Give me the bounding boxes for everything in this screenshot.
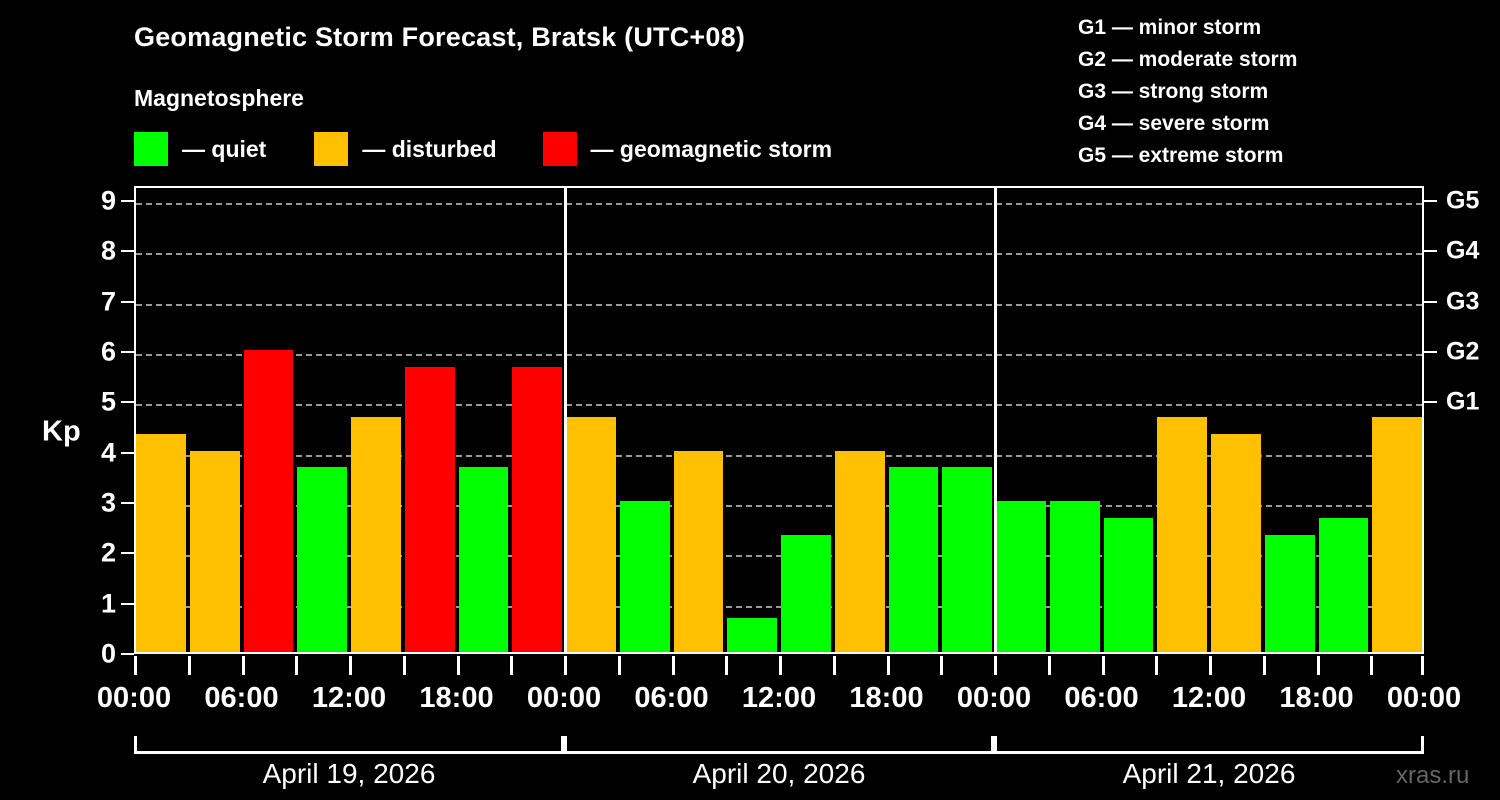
x-tick-label: 18:00: [419, 682, 493, 715]
legend-item-storm: — geomagnetic storm: [543, 131, 833, 167]
x-tick-label: 00:00: [957, 682, 1031, 715]
g-tick-mark: [1424, 301, 1437, 303]
g-scale-item-g1: G1 — minor storm: [1078, 12, 1297, 44]
y-tick-mark: [121, 552, 134, 554]
day-label: April 20, 2026: [693, 758, 866, 790]
g-axis-labels: G1G2G3G4G5: [1446, 186, 1500, 654]
y-tick-label: 7: [101, 286, 116, 317]
g-tick-mark: [1424, 351, 1437, 353]
x-tick-mark: [1209, 656, 1212, 675]
x-tick-mark: [1370, 656, 1373, 675]
bar: [1319, 518, 1369, 652]
bar: [889, 467, 939, 652]
x-tick-mark: [1102, 656, 1105, 675]
bar: [566, 417, 616, 652]
y-tick-label: 8: [101, 236, 116, 267]
gridline: [136, 203, 1422, 205]
x-tick-label: 06:00: [204, 682, 278, 715]
x-tick-label: 00:00: [527, 682, 601, 715]
g-scale-legend: G1 — minor storm G2 — moderate storm G3 …: [1078, 12, 1297, 172]
x-tick-label: 00:00: [97, 682, 171, 715]
y-tick-mark: [121, 653, 134, 655]
red-swatch-icon: [543, 132, 577, 166]
x-tick-mark: [618, 656, 621, 675]
day-bracket: [994, 736, 1424, 754]
x-tick-mark: [1263, 656, 1266, 675]
g-scale-item-g2: G2 — moderate storm: [1078, 44, 1297, 76]
x-tick-mark: [403, 656, 406, 675]
gridline: [136, 354, 1422, 356]
legend-item-disturbed: — disturbed: [314, 131, 496, 167]
y-tick-label: 4: [101, 437, 116, 468]
bar: [1211, 434, 1261, 652]
legend-heading: Magnetosphere: [134, 85, 304, 112]
gridline: [136, 304, 1422, 306]
bar: [405, 367, 455, 652]
legend-label-storm: — geomagnetic storm: [591, 136, 833, 163]
bar: [674, 451, 724, 652]
day-label: April 19, 2026: [263, 758, 436, 790]
x-tick-label: 12:00: [312, 682, 386, 715]
x-tick-mark: [349, 656, 352, 675]
x-tick-mark: [725, 656, 728, 675]
y-tick-mark: [121, 351, 134, 353]
x-tick-label: 18:00: [1279, 682, 1353, 715]
x-axis-labels: 00:0006:0012:0018:0000:0006:0012:0018:00…: [0, 682, 1500, 722]
day-label: April 21, 2026: [1123, 758, 1296, 790]
y-tick-mark: [121, 301, 134, 303]
y-tick-mark: [121, 250, 134, 252]
orange-swatch-icon: [314, 132, 348, 166]
y-tick-mark: [121, 603, 134, 605]
x-tick-mark: [1317, 656, 1320, 675]
g-axis-ticks: [1424, 186, 1438, 654]
y-tick-label: 0: [101, 639, 116, 670]
x-tick-mark: [242, 656, 245, 675]
g-scale-item-g5: G5 — extreme storm: [1078, 140, 1297, 172]
bar: [190, 451, 240, 652]
bar: [1104, 518, 1154, 652]
g-tick-label: G5: [1446, 187, 1479, 216]
x-tick-label: 06:00: [634, 682, 708, 715]
bar: [1157, 417, 1207, 652]
plot-area: [136, 188, 1422, 652]
day-bracket: [134, 736, 564, 754]
legend-item-quiet: — quiet: [134, 131, 266, 167]
bar: [1265, 535, 1315, 652]
watermark: xras.ru: [1396, 762, 1469, 790]
g-scale-item-g4: G4 — severe storm: [1078, 108, 1297, 140]
x-tick-mark: [1048, 656, 1051, 675]
x-tick-mark: [134, 656, 137, 675]
x-tick-label: 12:00: [1172, 682, 1246, 715]
kp-bar-chart: [134, 186, 1424, 654]
gridline: [136, 404, 1422, 406]
day-separator: [994, 188, 997, 652]
y-tick-label: 2: [101, 538, 116, 569]
x-tick-label: 00:00: [1387, 682, 1461, 715]
y-tick-label: 5: [101, 387, 116, 418]
g-scale-item-g3: G3 — strong storm: [1078, 76, 1297, 108]
x-tick-mark: [833, 656, 836, 675]
x-tick-mark: [1421, 656, 1424, 675]
x-tick-mark: [1155, 656, 1158, 675]
y-tick-label: 6: [101, 337, 116, 368]
day-brackets: April 19, 2026April 20, 2026April 21, 20…: [134, 736, 1424, 760]
x-tick-mark: [994, 656, 997, 675]
x-tick-label: 18:00: [849, 682, 923, 715]
x-axis-ticks: [134, 656, 1424, 676]
day-separator: [564, 188, 567, 652]
bar: [727, 618, 777, 652]
y-axis-labels: 0123456789: [74, 186, 116, 654]
y-tick-mark: [121, 502, 134, 504]
bar: [1372, 417, 1422, 652]
bar: [620, 501, 670, 652]
g-tick-label: G4: [1446, 237, 1479, 266]
x-tick-mark: [295, 656, 298, 675]
legend-label-quiet: — quiet: [182, 136, 266, 163]
y-tick-mark: [121, 200, 134, 202]
x-tick-mark: [779, 656, 782, 675]
x-tick-label: 06:00: [1064, 682, 1138, 715]
bar: [512, 367, 562, 652]
y-tick-label: 9: [101, 186, 116, 217]
y-tick-label: 3: [101, 488, 116, 519]
bar: [835, 451, 885, 652]
x-tick-mark: [887, 656, 890, 675]
g-tick-mark: [1424, 401, 1437, 403]
bar: [244, 350, 294, 652]
x-tick-mark: [457, 656, 460, 675]
bar: [459, 467, 509, 652]
bar: [1050, 501, 1100, 652]
g-tick-label: G3: [1446, 287, 1479, 316]
g-tick-label: G2: [1446, 338, 1479, 367]
bar: [136, 434, 186, 652]
bar: [781, 535, 831, 652]
x-tick-mark: [940, 656, 943, 675]
y-axis-ticks: [121, 186, 135, 654]
y-tick-mark: [121, 401, 134, 403]
x-tick-mark: [672, 656, 675, 675]
gridline: [136, 253, 1422, 255]
bar: [942, 467, 992, 652]
x-tick-mark: [564, 656, 567, 675]
g-tick-label: G1: [1446, 388, 1479, 417]
x-tick-mark: [188, 656, 191, 675]
magnetosphere-legend: — quiet — disturbed — geomagnetic storm: [134, 131, 832, 167]
bar: [996, 501, 1046, 652]
page-title: Geomagnetic Storm Forecast, Bratsk (UTC+…: [134, 22, 745, 53]
y-tick-mark: [121, 452, 134, 454]
legend-label-disturbed: — disturbed: [362, 136, 496, 163]
x-tick-mark: [510, 656, 513, 675]
day-bracket: [564, 736, 994, 754]
green-swatch-icon: [134, 132, 168, 166]
x-tick-label: 12:00: [742, 682, 816, 715]
bar: [297, 467, 347, 652]
g-tick-mark: [1424, 200, 1437, 202]
g-tick-mark: [1424, 250, 1437, 252]
y-tick-label: 1: [101, 588, 116, 619]
bar: [351, 417, 401, 652]
